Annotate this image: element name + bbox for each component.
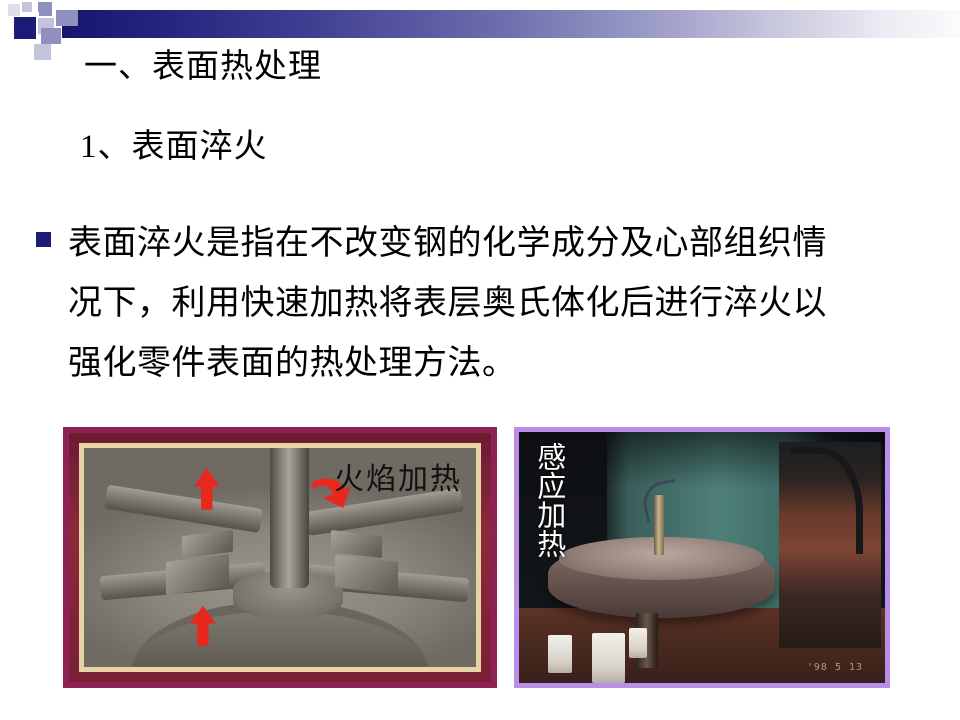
center-shaft bbox=[270, 444, 309, 589]
page-title: 一、表面热处理 bbox=[84, 46, 322, 89]
spoke-upper-left bbox=[104, 485, 263, 533]
photo-fixture-1 bbox=[548, 635, 572, 673]
photo-cable bbox=[640, 479, 683, 524]
flame-figure-illustration: 火焰加热 bbox=[84, 448, 476, 667]
bullet-paragraph: 表面淬火是指在不改变钢的化学成分及心部组织情 况下，利用快速加热将表层奥氏体化后… bbox=[36, 214, 936, 394]
deco-square-1 bbox=[8, 4, 20, 16]
bullet-line-1: 表面淬火是指在不改变钢的化学成分及心部组织情 bbox=[68, 214, 936, 274]
photo-date-stamp: '98 5 13 bbox=[807, 662, 863, 673]
photo-fixture-2 bbox=[592, 633, 625, 683]
deco-gap-3 bbox=[0, 0, 8, 60]
header-gradient-bar bbox=[62, 10, 960, 38]
figure-flame-heating: 火焰加热 bbox=[63, 427, 497, 688]
deco-gap-1 bbox=[33, 12, 39, 17]
page-subtitle: 1、表面淬火 bbox=[80, 126, 268, 169]
photo-fixture-3 bbox=[629, 628, 647, 658]
deco-square-3 bbox=[38, 2, 52, 16]
block-lower-left bbox=[166, 554, 229, 595]
figure-induction-heating: '98 5 13 感应加热 bbox=[514, 427, 890, 688]
deco-square-navy bbox=[14, 17, 36, 39]
arrow-up-bottom-icon bbox=[190, 606, 216, 646]
bullet-square-icon bbox=[36, 232, 51, 247]
deco-gap-4 bbox=[51, 44, 62, 60]
deco-square-6 bbox=[34, 44, 51, 60]
arrow-up-top-icon bbox=[194, 468, 220, 510]
deco-square-7 bbox=[56, 10, 78, 26]
figure-flame-label: 火焰加热 bbox=[334, 454, 462, 498]
bullet-line-3: 强化零件表面的热处理方法。 bbox=[68, 334, 936, 394]
block-lower-right bbox=[335, 554, 398, 595]
figure-induction-label: 感应加热 bbox=[529, 442, 564, 558]
bullet-line-2: 况下，利用快速加热将表层奥氏体化后进行淬火以 bbox=[68, 274, 936, 334]
deco-square-2 bbox=[22, 2, 32, 12]
flame-figure-frame: 火焰加热 bbox=[79, 443, 481, 672]
induction-figure-photo: '98 5 13 感应加热 bbox=[519, 432, 885, 683]
